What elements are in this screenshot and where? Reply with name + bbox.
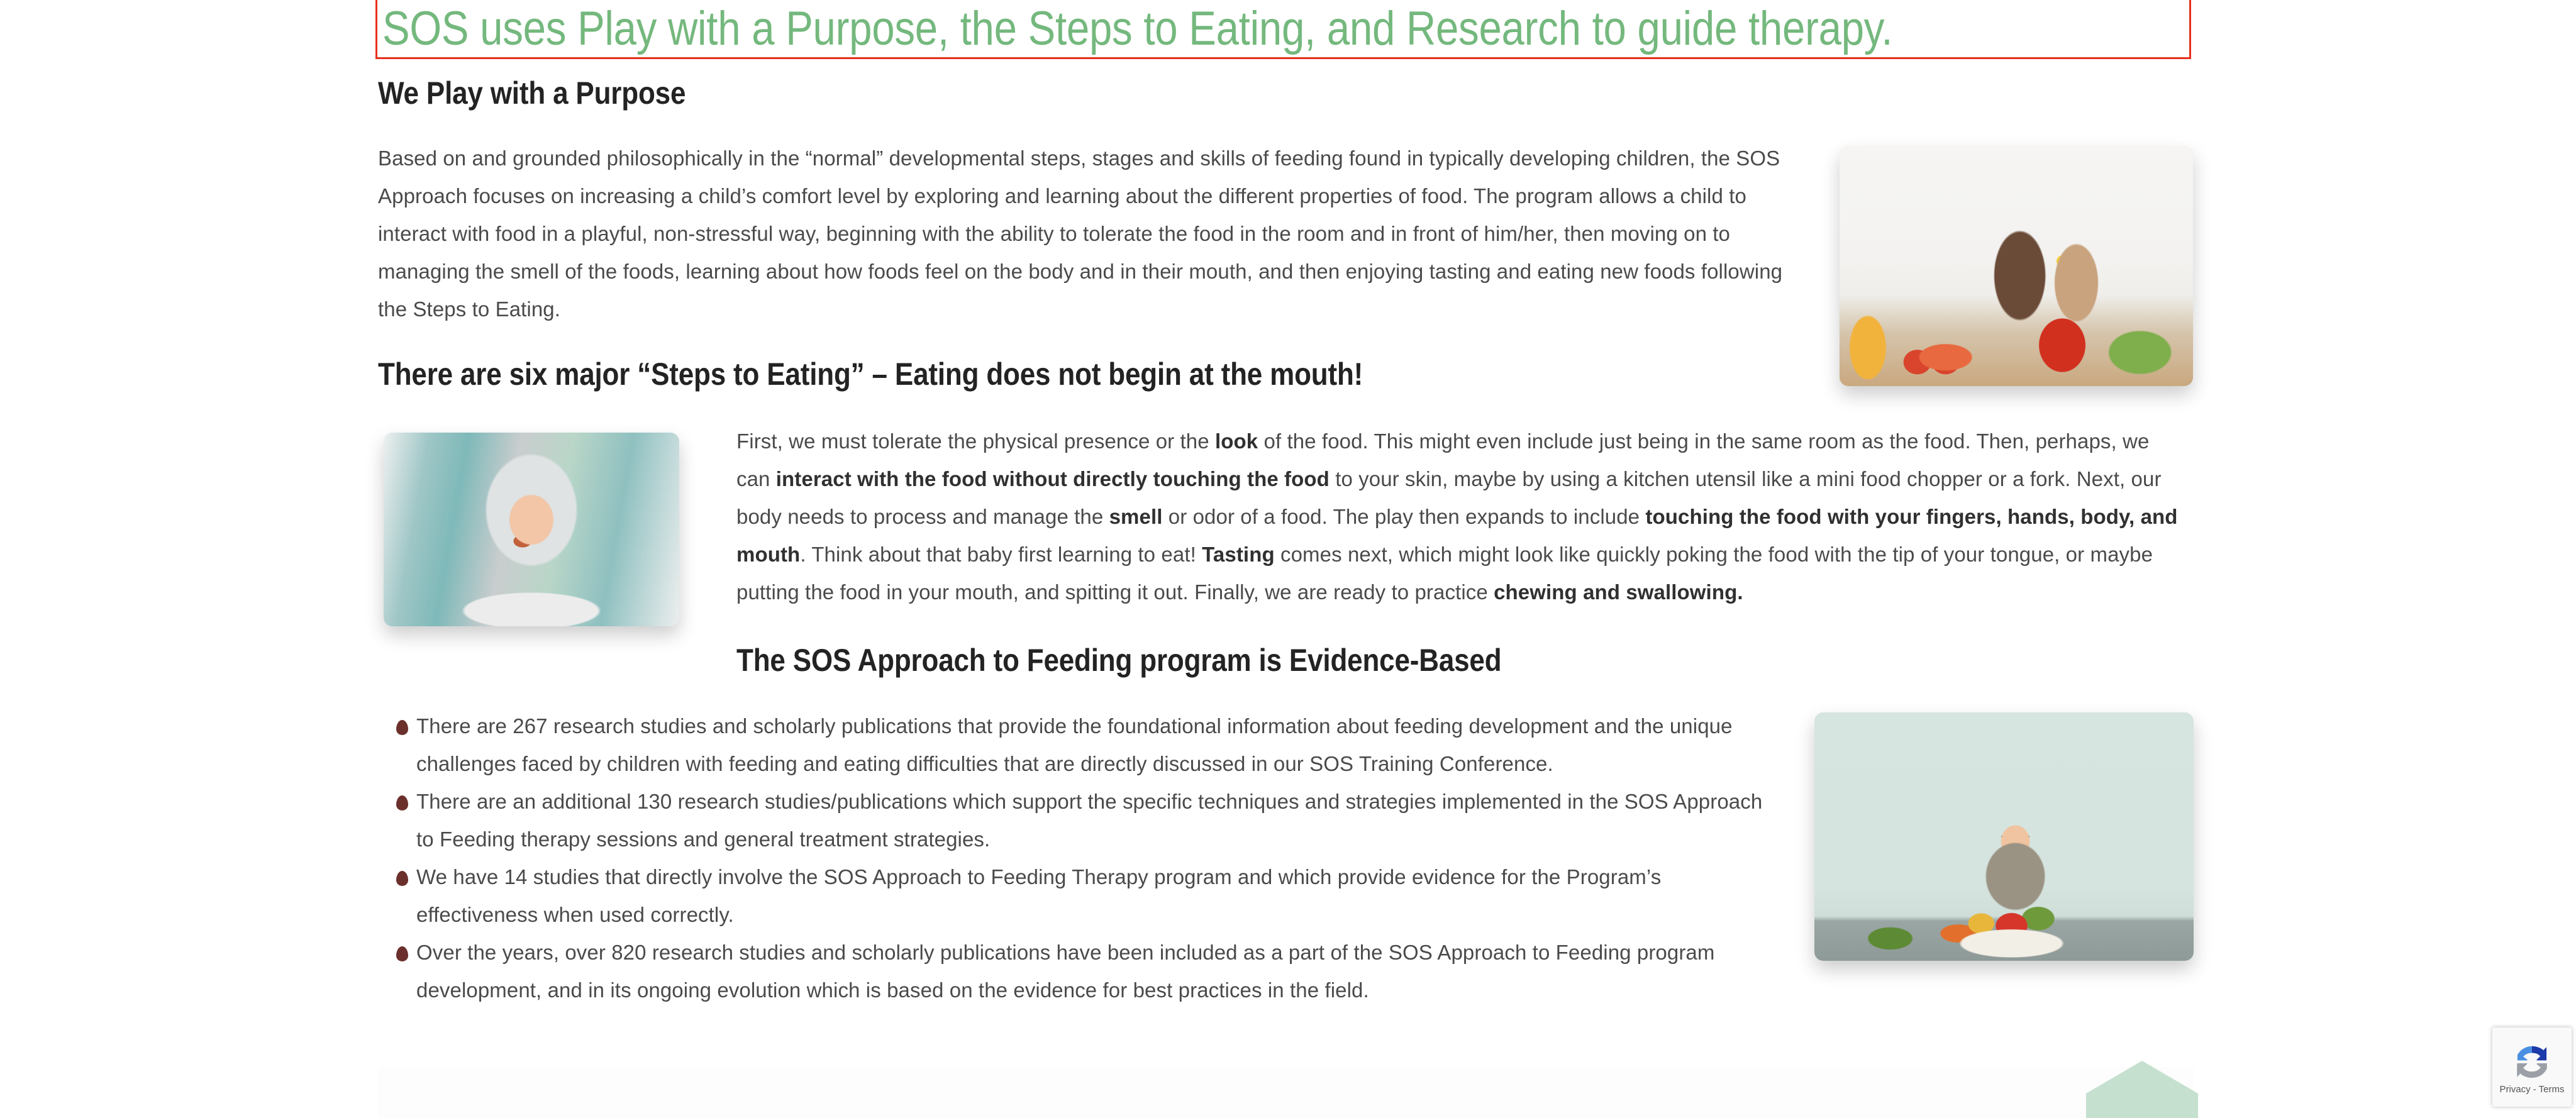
section-paragraph-play-with-a-purpose: Based on and grounded philosophically in… bbox=[378, 140, 1784, 328]
emphasis-text: chewing and swallowing. bbox=[1494, 580, 1743, 604]
messy-baby-high-chair-photo bbox=[384, 433, 679, 626]
list-item-text: We have 14 studies that directly involve… bbox=[416, 858, 1764, 934]
recaptcha-logo-icon bbox=[2511, 1041, 2553, 1083]
body-text: First, we must tolerate the physical pre… bbox=[736, 429, 1215, 453]
page-root: SOS uses Play with a Purpose, the Steps … bbox=[0, 0, 2576, 1118]
bullet-marker-icon bbox=[396, 795, 408, 811]
evidence-bullet-list: There are 267 research studies and schol… bbox=[396, 707, 1764, 1009]
emphasis-text: look bbox=[1215, 429, 1258, 453]
bullet-marker-icon bbox=[396, 720, 408, 735]
list-item: We have 14 studies that directly involve… bbox=[396, 858, 1764, 934]
boy-with-vegetables-photo bbox=[1814, 712, 2194, 961]
body-text: . Think about that baby first learning t… bbox=[800, 543, 1202, 566]
body-text: or odor of a food. The play then expands… bbox=[1163, 505, 1646, 528]
emphasis-text: smell bbox=[1109, 505, 1163, 528]
emphasis-text: Tasting bbox=[1202, 543, 1275, 566]
photo-image bbox=[1840, 146, 2193, 386]
list-item: There are 267 research studies and schol… bbox=[396, 707, 1764, 783]
section-heading-play-with-a-purpose: We Play with a Purpose bbox=[378, 74, 686, 112]
bullet-marker-icon bbox=[396, 946, 408, 961]
list-item: There are an additional 130 research stu… bbox=[396, 783, 1764, 858]
section-heading-evidence-based: The SOS Approach to Feeding program is E… bbox=[736, 641, 1501, 679]
mother-and-daughter-kitchen-photo bbox=[1840, 146, 2193, 386]
bullet-marker-icon bbox=[396, 871, 408, 886]
photo-image bbox=[1814, 712, 2194, 961]
lower-section-band bbox=[378, 1067, 2194, 1118]
section-paragraph-steps-to-eating: First, we must tolerate the physical pre… bbox=[736, 423, 2183, 611]
list-item: Over the years, over 820 research studie… bbox=[396, 934, 1764, 1009]
photo-image bbox=[384, 433, 679, 626]
main-content: We Play with a Purpose Based on and grou… bbox=[0, 0, 2576, 1118]
emphasis-text: interact with the food without directly … bbox=[776, 467, 1330, 490]
section-heading-steps-to-eating: There are six major “Steps to Eating” – … bbox=[378, 355, 1363, 393]
recaptcha-privacy-terms-label[interactable]: Privacy - Terms bbox=[2499, 1084, 2564, 1095]
list-item-text: Over the years, over 820 research studie… bbox=[416, 934, 1764, 1009]
list-item-text: There are 267 research studies and schol… bbox=[416, 707, 1764, 783]
list-item-text: There are an additional 130 research stu… bbox=[416, 783, 1764, 858]
recaptcha-badge[interactable]: Privacy - Terms bbox=[2492, 1027, 2572, 1107]
